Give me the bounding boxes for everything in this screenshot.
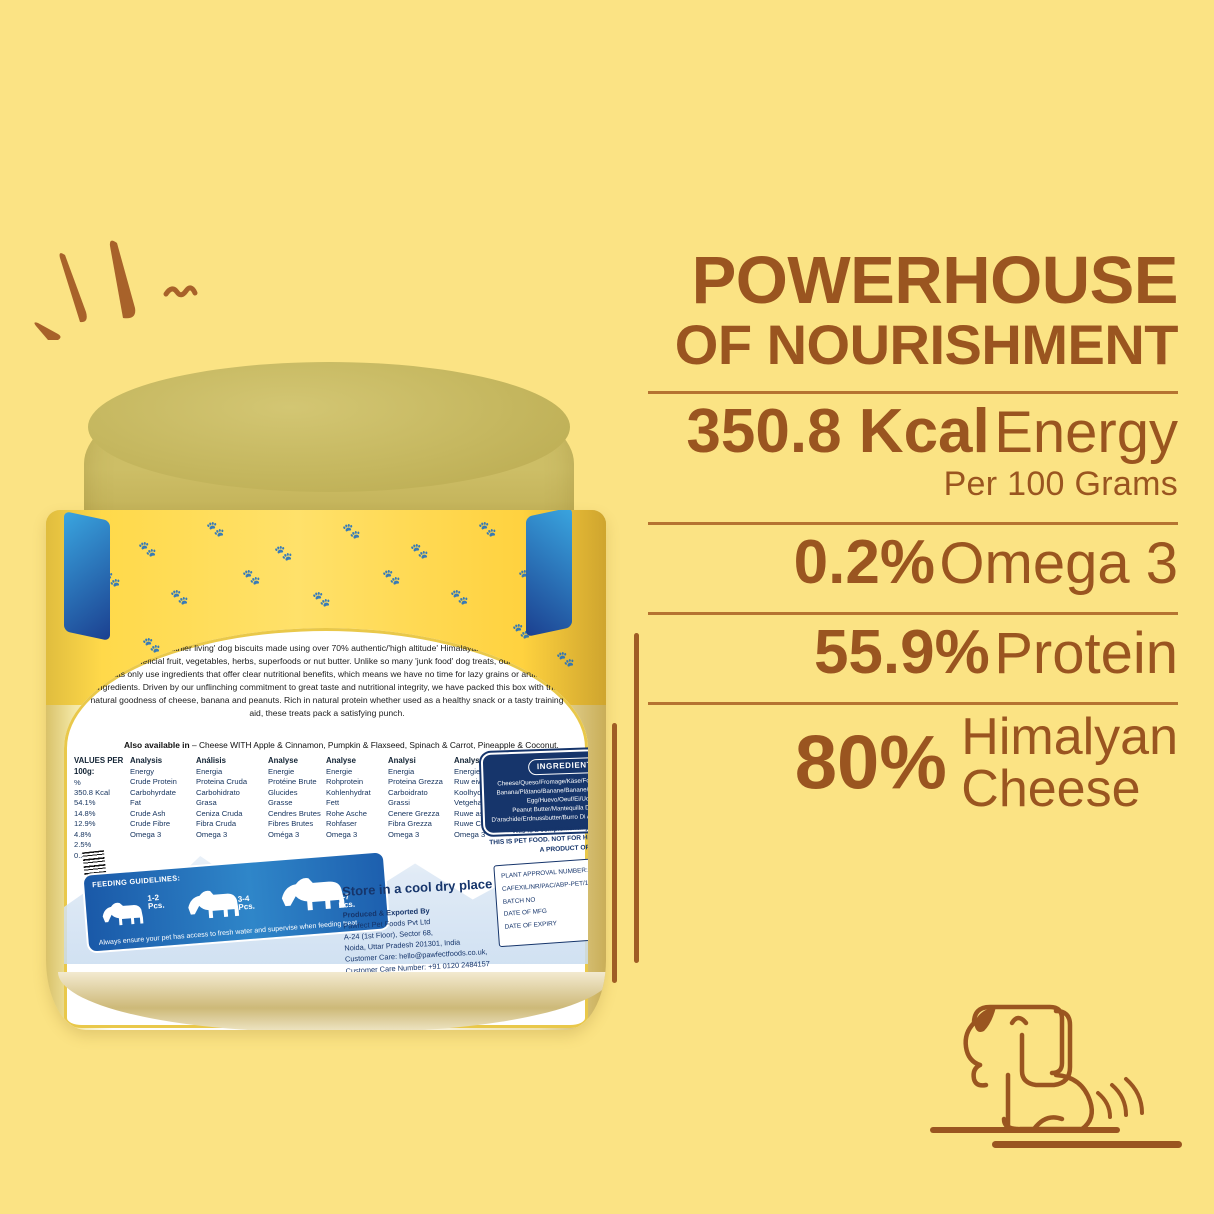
nutrition-value: 350.8 Kcal	[74, 788, 126, 798]
column-heading: Análisis	[196, 756, 268, 767]
nutrient-name: Cendres Brutes	[268, 809, 328, 819]
nutrient-name: Carboidrato	[388, 788, 454, 798]
nutrient-name: Rohprotein	[326, 777, 392, 787]
claim-protein: 55.9% Protein	[648, 621, 1178, 684]
nutrition-value: 14.8%	[74, 809, 126, 819]
claim-energy-value: 350.8 Kcal	[686, 397, 989, 466]
nutrient-name: Fat	[130, 798, 196, 808]
nutrition-column-en: Analysis Energy Crude Protein Carbohyrda…	[130, 756, 196, 840]
jar-lid-top	[88, 362, 570, 492]
product-jar: 🐾 🐾 🐾 🐾 🐾 🐾 🐾 🐾 🐾 🐾 🐾 🐾 🐾 🐾 🐾 🐾 🐾 🐾 🐾	[36, 300, 616, 1040]
nutrient-name: Energy	[130, 767, 196, 777]
nutrition-values-column: VALUES PER 100g: % 350.8 Kcal 54.1% 14.8…	[74, 756, 126, 861]
claim-protein-label: Protein	[994, 621, 1178, 686]
divider-3	[648, 612, 1178, 615]
nutrient-name: Rohe Asche	[326, 809, 392, 819]
nutrient-name: Carbohidrato	[196, 788, 268, 798]
claims-panel: POWERHOUSE OF NOURISHMENT 350.8 Kcal Ene…	[648, 248, 1178, 815]
nutrient-name: Crude Protein	[130, 777, 196, 787]
nutrition-value: 4.8%	[74, 830, 126, 840]
claim-energy: 350.8 Kcal Energy Per 100 Grams	[648, 400, 1178, 504]
marketing-canvas: 🐾 🐾 🐾 🐾 🐾 🐾 🐾 🐾 🐾 🐾 🐾 🐾 🐾 🐾 🐾 🐾 🐾 🐾 🐾	[0, 0, 1214, 1214]
nutrient-name: Energie	[268, 767, 328, 777]
column-heading: Analyse	[268, 756, 328, 767]
nutrition-unit-header: %	[74, 778, 126, 788]
nutrition-column-de: Analyse Energie Rohprotein Kohlenhydrat …	[326, 756, 392, 840]
also-available: Also available in – Cheese WITH Apple & …	[124, 740, 564, 750]
nutrient-name: Grassi	[388, 798, 454, 808]
claim-energy-label: Energy	[994, 400, 1178, 465]
accent-stroke-right	[634, 633, 639, 963]
divider-2	[648, 522, 1178, 525]
column-heading: Analysi	[388, 756, 454, 767]
headline: POWERHOUSE OF NOURISHMENT	[648, 248, 1178, 373]
nutrient-name: Fibra Cruda	[196, 819, 268, 829]
nutrient-name: Fibres Brutes	[268, 819, 328, 829]
nutrient-name: Glucides	[268, 788, 328, 798]
nutrient-name: Omega 3	[388, 830, 454, 840]
nutrient-name: Grasse	[268, 798, 328, 808]
nutrient-name: Omega 3	[130, 830, 196, 840]
nutrient-name: Energia	[388, 767, 454, 777]
claim-protein-value: 55.9%	[814, 618, 990, 687]
dog-mascot-icon	[930, 975, 1200, 1160]
nutrient-name: Protéine Brute	[268, 777, 328, 787]
approval-box: PLANT APPROVAL NUMBER: CAFEXIL/NR/PAC/AB…	[493, 855, 588, 947]
nutrition-column-it: Analysi Energia Proteina Grezza Carboidr…	[388, 756, 454, 840]
nutrient-name: Proteina Grezza	[388, 777, 454, 787]
nutrient-name: Carbohyrdate	[130, 788, 196, 798]
nutrient-name: Omega 3	[196, 830, 268, 840]
nutrient-name: Rohfaser	[326, 819, 392, 829]
ingredients-title: INGREDIENTS:	[528, 757, 588, 775]
nutrient-name: Ceniza Cruda	[196, 809, 268, 819]
divider-1	[648, 391, 1178, 394]
claim-cheese-label-line-1: Himalyan	[961, 708, 1178, 766]
also-available-label: Also available in	[124, 740, 190, 750]
claim-omega3: 0.2% Omega 3	[648, 531, 1178, 594]
headline-line-2: OF NOURISHMENT	[648, 318, 1178, 373]
nutrient-name: Oméga 3	[268, 830, 328, 840]
nutrition-column-es: Análisis Energia Proteina Cruda Carbohid…	[196, 756, 268, 840]
claim-cheese-label-line-2: Cheese	[961, 760, 1140, 818]
ingredients-box: INGREDIENTS: Cheese/Queso/Fromage/Käse/F…	[481, 747, 588, 835]
nutrient-name: Cenere Grezza	[388, 809, 454, 819]
plant-approval-number: PLANT APPROVAL NUMBER: CAFEXIL/NR/PAC/AB…	[501, 861, 588, 896]
column-heading: Analyse	[326, 756, 392, 767]
ribbon-left	[64, 511, 110, 641]
claim-energy-sub: Per 100 Grams	[648, 465, 1178, 504]
ribbon-right	[526, 510, 572, 637]
nutrient-name: Crude Fibre	[130, 819, 196, 829]
feeding-dose-medium: 3-4 Pcs.	[238, 895, 256, 913]
claim-cheese-value: 80%	[795, 721, 947, 806]
nutrient-name: Fibra Grezza	[388, 819, 454, 829]
nutrient-name: Energie	[326, 767, 392, 777]
product-label: Cheescuits are 'healthier living' dog bi…	[64, 628, 588, 1028]
nutrient-name: Crude Ash	[130, 809, 196, 819]
nutrient-name: Energia	[196, 767, 268, 777]
claim-omega3-value: 0.2%	[794, 528, 935, 597]
jar-body: 🐾 🐾 🐾 🐾 🐾 🐾 🐾 🐾 🐾 🐾 🐾 🐾 🐾 🐾 🐾 🐾 🐾 🐾 🐾	[46, 510, 606, 1030]
nutrition-value: 54.1%	[74, 798, 126, 808]
claim-cheese: 80% Himalyan Cheese	[648, 711, 1178, 815]
nutrition-value: 12.9%	[74, 819, 126, 829]
nutrient-name: Fett	[326, 798, 392, 808]
nutrient-name: Proteina Cruda	[196, 777, 268, 787]
product-description: Cheescuits are 'healthier living' dog bi…	[88, 642, 566, 720]
nutrition-column-fr: Analyse Energie Protéine Brute Glucides …	[268, 756, 328, 840]
also-available-value: – Cheese WITH Apple & Cinnamon, Pumpkin …	[192, 740, 559, 750]
feeding-dose-small: 1-2 Pcs.	[147, 894, 165, 912]
nutrition-header: VALUES PER 100g:	[74, 756, 126, 778]
accent-stroke-left	[612, 723, 617, 983]
nutrient-name: Kohlenhydrat	[326, 788, 392, 798]
nutrient-name: Grasa	[196, 798, 268, 808]
headline-line-1: POWERHOUSE	[648, 248, 1178, 314]
column-heading: Analysis	[130, 756, 196, 767]
claim-omega3-label: Omega 3	[939, 531, 1178, 596]
nutrient-name: Omega 3	[326, 830, 392, 840]
divider-4	[648, 702, 1178, 705]
